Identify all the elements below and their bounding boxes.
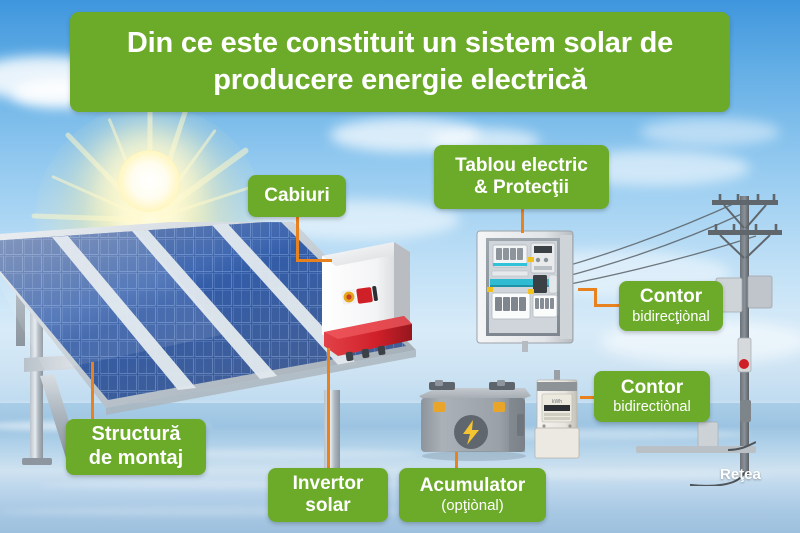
callout-mounting[interactable]: Structură de montaj [66, 419, 206, 475]
callout-cables-label: Cabiuri [264, 185, 329, 207]
leader-line-cables-elbow [296, 259, 332, 262]
page-title-banner: Din ce este constituit un sistem solar d… [70, 12, 730, 112]
callout-meter-bottom-line-1: Contor [621, 377, 683, 399]
service-pedestal [636, 420, 756, 466]
svg-text:kWh: kWh [552, 399, 562, 405]
page-title-line-2: producere energie electrică [213, 64, 586, 96]
callout-panel-board[interactable]: Tablou electric & Protecţii [434, 145, 609, 209]
callout-mounting-line-2: de montaj [89, 447, 183, 471]
electric-meter: kWh [534, 370, 580, 460]
callout-grid: Reţea [720, 466, 761, 483]
callout-meter-top-line-2: bidirecţiònal [632, 309, 709, 326]
callout-battery-line-1: Acumulator [420, 475, 526, 497]
callout-battery-line-2: (opţiònal) [441, 497, 504, 515]
infographic-canvas: kWh [0, 0, 800, 533]
callout-meter-top[interactable]: Contor bidirecţiònal [619, 281, 723, 331]
callout-mounting-line-1: Structură [92, 423, 181, 447]
callout-battery[interactable]: Acumulator (opţiònal) [399, 468, 546, 522]
callout-grid-label: Reţea [720, 466, 761, 483]
leader-line-meter-top [594, 304, 621, 307]
leader-line-meter-top-2 [578, 288, 596, 291]
page-title-line-1: Din ce este constituit un sistem solar d… [127, 27, 673, 59]
callout-inverter-line-2: solar [305, 495, 350, 517]
leader-line-panel-board [521, 209, 524, 233]
callout-meter-top-line-1: Contor [640, 286, 702, 308]
battery-bank [413, 380, 535, 462]
callout-panel-board-line-1: Tablou electric [455, 155, 588, 177]
electrical-cabinet [476, 227, 578, 352]
callout-cables[interactable]: Cabiuri [248, 175, 346, 217]
page-title: Din ce este constituit un sistem solar d… [105, 25, 695, 99]
cloud-decoration [640, 118, 780, 146]
solar-inverter-device [318, 240, 416, 365]
callout-meter-bottom-line-2: bidirectiònal [613, 399, 690, 416]
callout-inverter-line-1: Invertor [293, 473, 364, 495]
leader-line-mounting [91, 362, 94, 421]
callout-panel-board-line-2: & Protecţii [474, 177, 569, 199]
leader-line-inverter [327, 348, 330, 469]
callout-inverter[interactable]: Invertor solar [268, 468, 388, 522]
leader-line-cables [296, 217, 299, 262]
sun-core [118, 150, 180, 212]
callout-meter-bottom[interactable]: Contor bidirectiònal [594, 371, 710, 422]
